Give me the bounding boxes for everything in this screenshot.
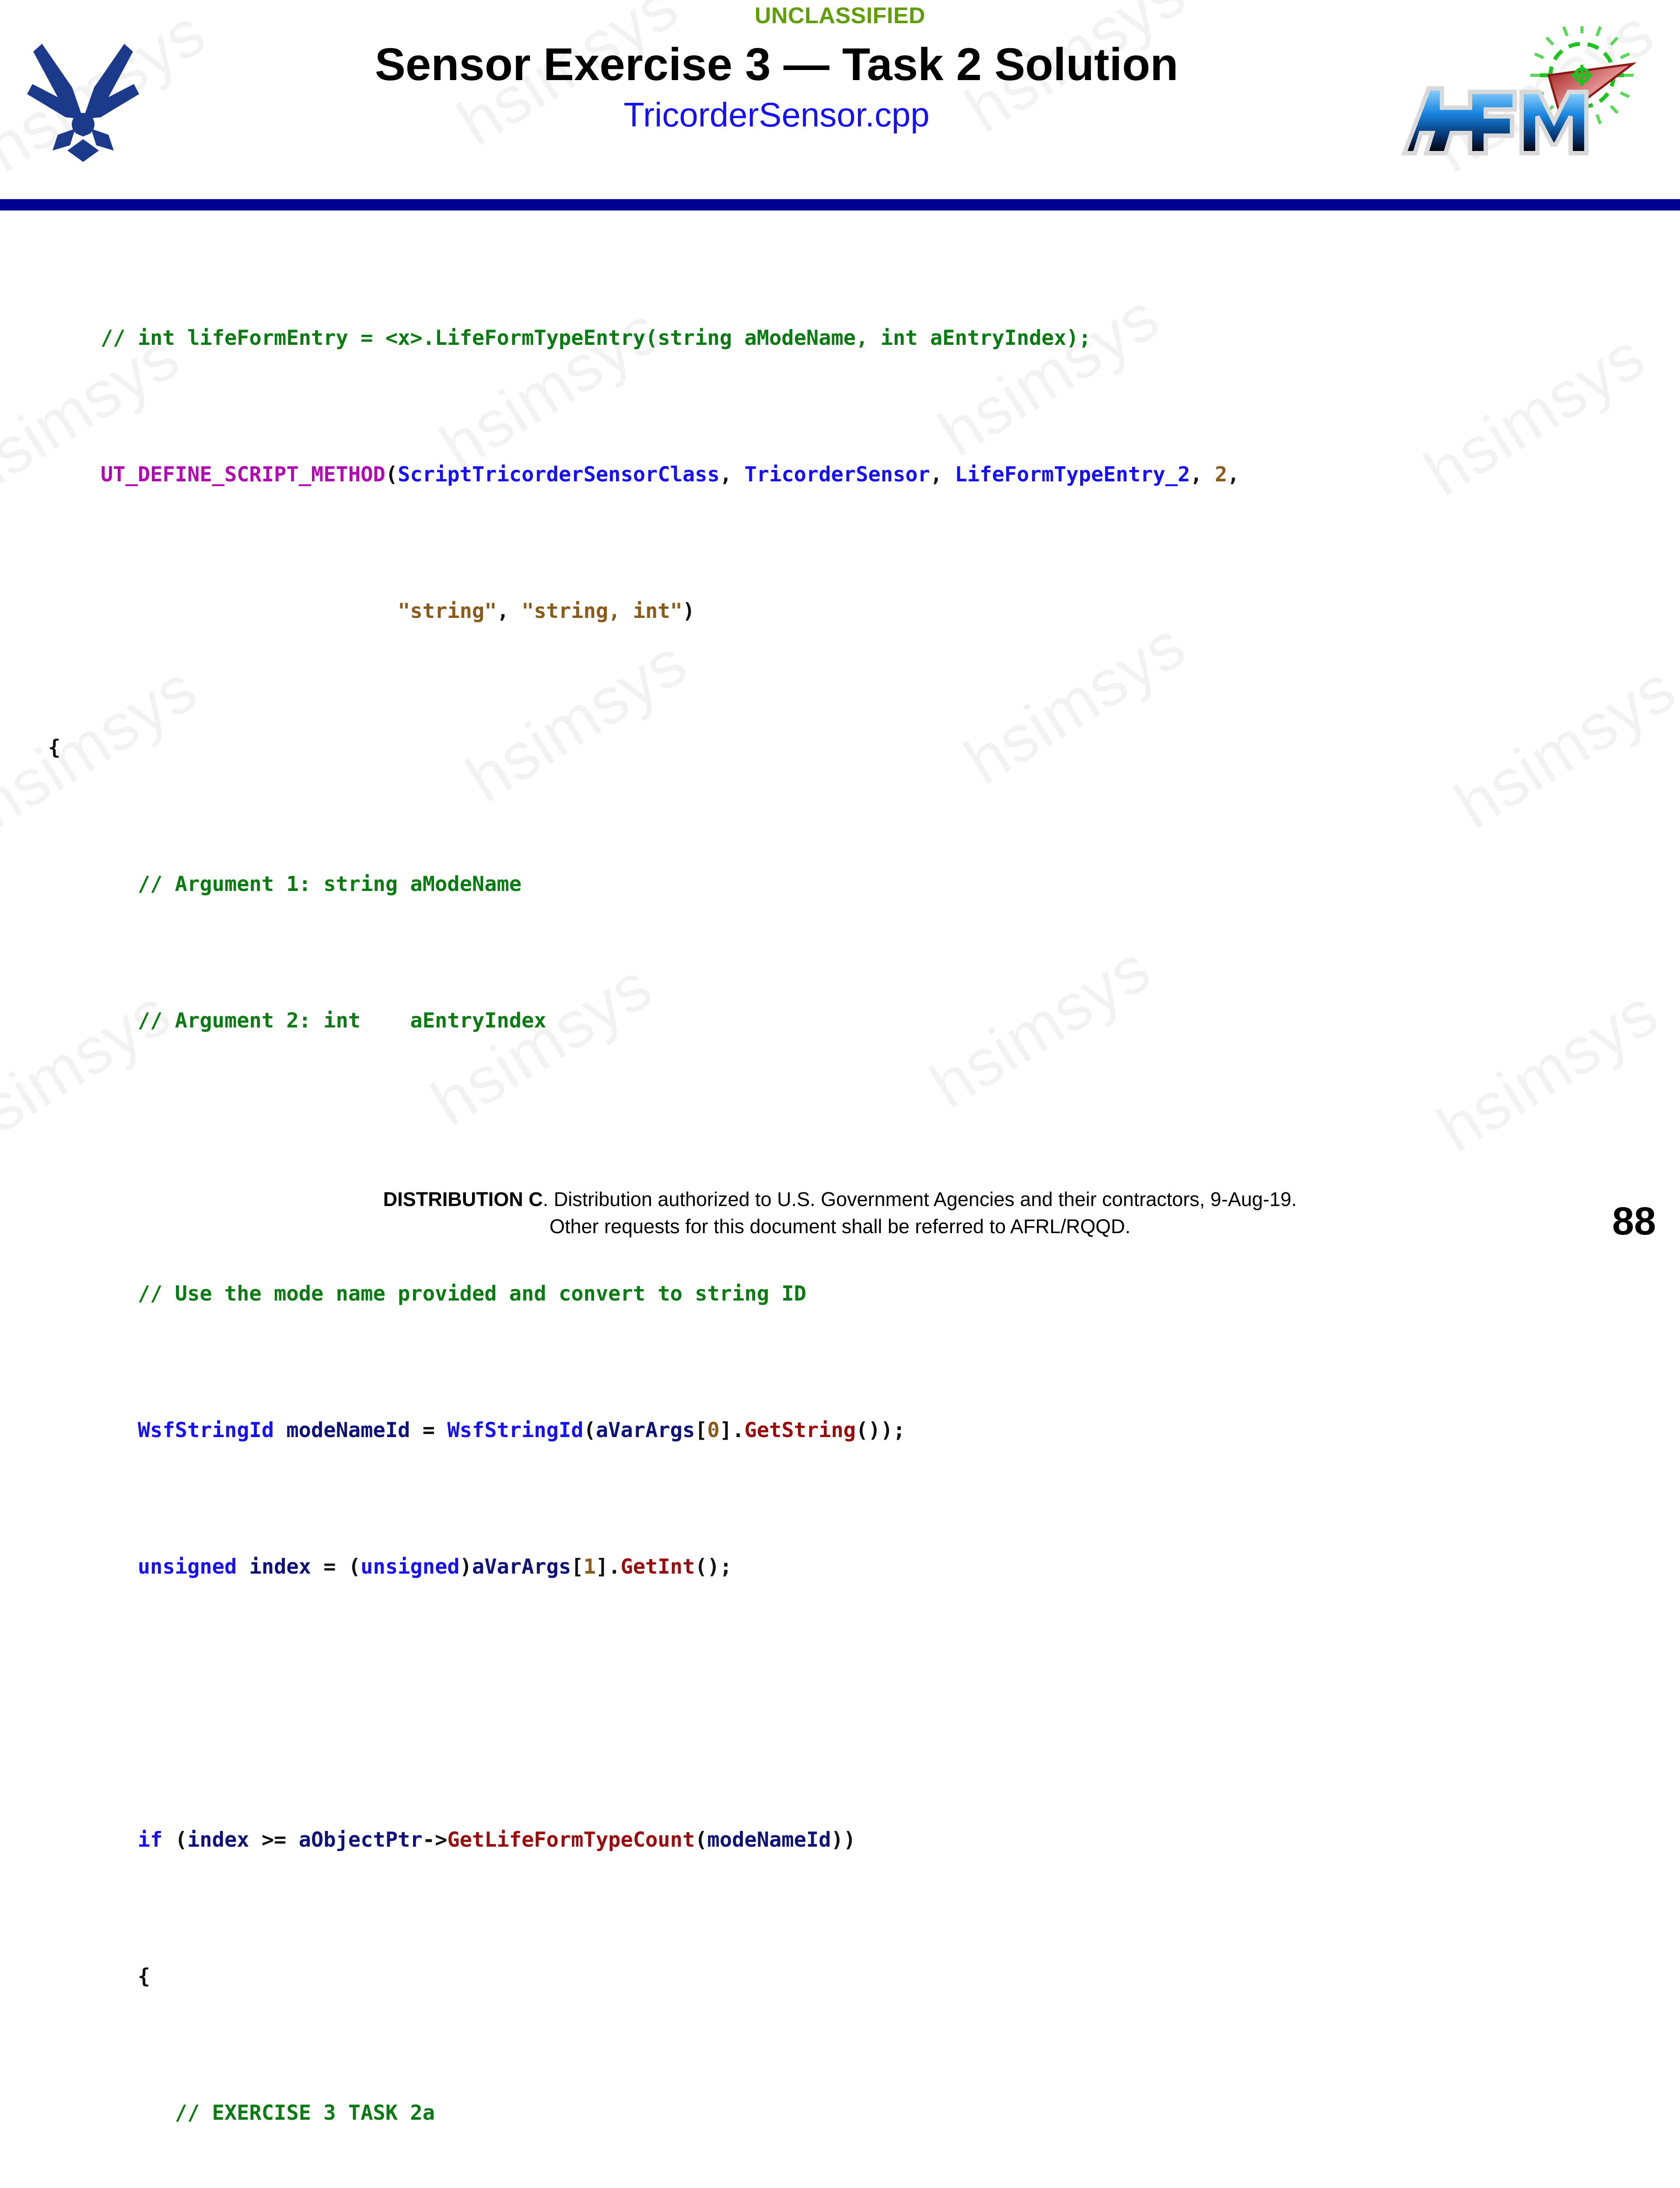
code-line-blank [101, 1687, 1658, 1721]
code-line: if (index >= aObjectPtr->GetLifeFormType… [101, 1823, 1658, 1857]
slide-footer: DISTRIBUTION C. Distribution authorized … [0, 1186, 1680, 1240]
afsim-logo-icon [1400, 26, 1671, 158]
code-line: { [48, 731, 1658, 765]
code-line: // Argument 2: int aEntryIndex [101, 1004, 1658, 1038]
code-line: UT_DEFINE_SCRIPT_METHOD(ScriptTricorderS… [101, 458, 1658, 492]
code-line-blank [101, 1140, 1658, 1175]
code-line: // Use the mode name provided and conver… [101, 1277, 1658, 1311]
us-air-force-logo-icon [17, 32, 149, 163]
distribution-statement-line-1: DISTRIBUTION C. Distribution authorized … [0, 1186, 1680, 1213]
distribution-text: . Distribution authorized to U.S. Govern… [543, 1188, 1297, 1210]
header-divider-rule [0, 199, 1680, 210]
page-number: 88 [1612, 1199, 1656, 1244]
page-title: Sensor Exercise 3 — Task 2 Solution [166, 39, 1387, 90]
code-line: // Argument 1: string aModeName [101, 867, 1658, 901]
distribution-label: DISTRIBUTION C [383, 1188, 543, 1210]
code-line: // int lifeFormEntry = <x>.LifeFormTypeE… [101, 321, 1658, 355]
code-line: unsigned index = (unsigned)aVarArgs[1].G… [101, 1550, 1658, 1584]
distribution-statement-line-2: Other requests for this document shall b… [0, 1213, 1680, 1240]
code-line: { [101, 1960, 1658, 1994]
classification-banner: UNCLASSIFIED [0, 3, 1680, 29]
code-line: WsfStringId modeNameId = WsfStringId(aVa… [101, 1413, 1658, 1448]
page-subtitle: TricorderSensor.cpp [166, 96, 1387, 134]
title-block: Sensor Exercise 3 — Task 2 Solution Tric… [166, 39, 1387, 133]
slide-header: UNCLASSIFIED Sensor Exercise 3 — Task 2 … [0, 0, 1680, 199]
code-line: "string", "string, int") [101, 594, 1658, 628]
code-line: // EXERCISE 3 TASK 2a [101, 2096, 1658, 2130]
